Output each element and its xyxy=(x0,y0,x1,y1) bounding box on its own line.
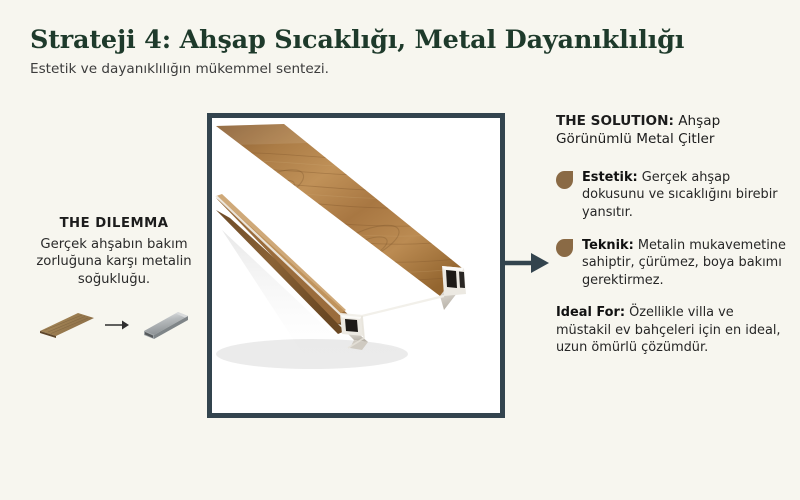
wood-plank-icon xyxy=(38,309,96,339)
bullet-label: Estetik: xyxy=(582,170,638,185)
ideal-for-note: Ideal For: Özellikle villa ve müstakil e… xyxy=(556,304,788,357)
dilemma-block: THE DILEMMA Gerçek ahşabın bakım zorluğu… xyxy=(8,216,220,288)
dilemma-heading: THE DILEMMA xyxy=(8,216,220,231)
metal-tube-icon xyxy=(138,308,190,340)
header: Strateji 4: Ahşap Sıcaklığı, Metal Dayan… xyxy=(30,26,750,77)
dilemma-icon-row xyxy=(8,298,220,350)
bullet-content: Estetik: Gerçek ahşap dokusunu ve sıcakl… xyxy=(582,169,788,222)
bullet-label: Teknik: xyxy=(582,238,634,253)
solution-block: THE SOLUTION: Ahşap Görünümlü Metal Çitl… xyxy=(556,113,788,357)
solution-heading-label: THE SOLUTION: xyxy=(556,113,674,129)
slide-root: Strateji 4: Ahşap Sıcaklığı, Metal Dayan… xyxy=(0,0,800,500)
leaf-bullet-icon xyxy=(556,171,573,189)
solution-heading: THE SOLUTION: Ahşap Görünümlü Metal Çitl… xyxy=(556,113,788,149)
solution-bullet-list: Estetik: Gerçek ahşap dokusunu ve sıcakl… xyxy=(556,169,788,289)
page-title: Strateji 4: Ahşap Sıcaklığı, Metal Dayan… xyxy=(30,26,750,54)
list-item: Estetik: Gerçek ahşap dokusunu ve sıcakl… xyxy=(556,169,788,222)
product-image-frame xyxy=(207,113,505,418)
dilemma-body: Gerçek ahşabın bakım zorluğuna karşı met… xyxy=(8,236,220,288)
arrow-right-icon xyxy=(104,317,130,331)
connector-arrow xyxy=(503,250,551,276)
ideal-for-label: Ideal For: xyxy=(556,305,625,320)
list-item: Teknik: Metalin mukavemetine sahiptir, ç… xyxy=(556,237,788,290)
leaf-bullet-icon xyxy=(556,239,573,257)
bullet-content: Teknik: Metalin mukavemetine sahiptir, ç… xyxy=(582,237,788,290)
product-image xyxy=(212,118,500,413)
page-subtitle: Estetik ve dayanıklılığın mükemmel sente… xyxy=(30,61,750,77)
